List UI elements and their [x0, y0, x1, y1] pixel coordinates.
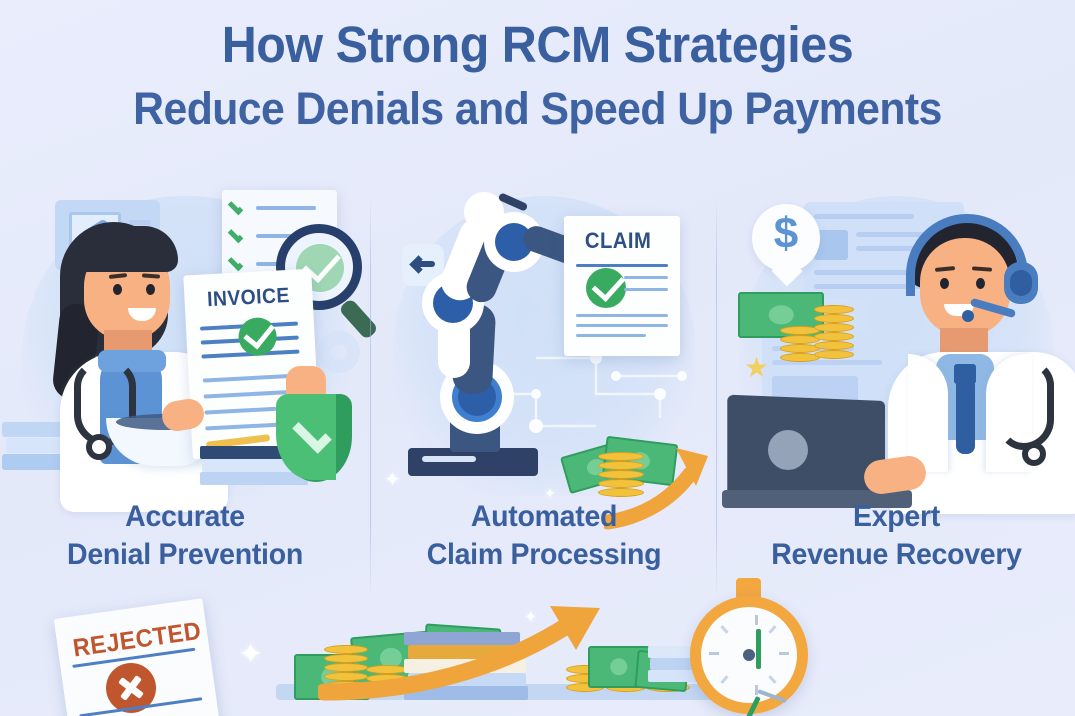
bottom-strip: REJECTED CLAIM	[0, 596, 1075, 716]
sparkle-icon: ✦	[384, 470, 401, 490]
coin-stack-icon-2	[814, 308, 854, 358]
sparkle-icon-2: ✦	[524, 610, 537, 626]
rejected-claim-document: REJECTED CLAIM	[54, 598, 221, 716]
gear-icon	[318, 331, 360, 373]
page-subtitle: Reduce Denials and Speed Up Payments	[27, 84, 1048, 134]
caption-panel-1: Accurate Denial Prevention	[9, 498, 361, 574]
stopwatch-hour-hand	[757, 689, 787, 703]
panel-expert-revenue-recovery: $ ★	[718, 186, 1075, 586]
caption-line-2: Claim Processing	[381, 536, 708, 574]
invoice-document-label: INVOICE	[207, 284, 291, 312]
page-title: How Strong RCM Strategies	[27, 18, 1048, 72]
panel-divider-2	[716, 196, 717, 598]
caption-panel-3: Expert Revenue Recovery	[727, 498, 1066, 574]
star-icon: ★	[744, 354, 769, 382]
dollar-sign-label: $	[752, 212, 820, 256]
caption-line-2: Revenue Recovery	[727, 536, 1066, 574]
panel-accurate-denial-prevention: INVOICE	[0, 186, 370, 586]
scene-claim-processing: CLAIM	[372, 186, 716, 516]
stopwatch-second-hand	[740, 696, 761, 716]
stopwatch-minute-hand	[756, 629, 761, 669]
green-check-icon	[586, 268, 626, 308]
sparkle-icon: ✦	[238, 640, 263, 670]
scene-denial-prevention: INVOICE	[0, 186, 370, 516]
claim-document-label: CLAIM	[585, 228, 651, 254]
caption-panel-2: Automated Claim Processing	[381, 498, 708, 574]
green-shield-icon	[276, 394, 352, 486]
caption-line-1: Accurate	[125, 500, 245, 533]
caption-line-1: Expert	[853, 500, 940, 533]
title-block: How Strong RCM Strategies Reduce Denials…	[0, 18, 1075, 134]
infographic-canvas: How Strong RCM Strategies Reduce Denials…	[0, 0, 1075, 716]
caption-line-2: Denial Prevention	[9, 536, 361, 574]
stopwatch-center-pin	[743, 649, 755, 661]
stopwatch-icon	[690, 578, 812, 710]
panel-divider-1	[370, 196, 371, 598]
scene-revenue-recovery: $ ★	[718, 186, 1075, 516]
caption-line-1: Automated	[471, 500, 617, 533]
panel-automated-claim-processing: CLAIM	[372, 186, 716, 586]
claim-document: CLAIM	[564, 216, 680, 356]
orange-growth-arrow-icon	[318, 606, 618, 706]
dollar-bubble-icon: $	[752, 204, 824, 290]
headset-icon	[906, 214, 1028, 296]
